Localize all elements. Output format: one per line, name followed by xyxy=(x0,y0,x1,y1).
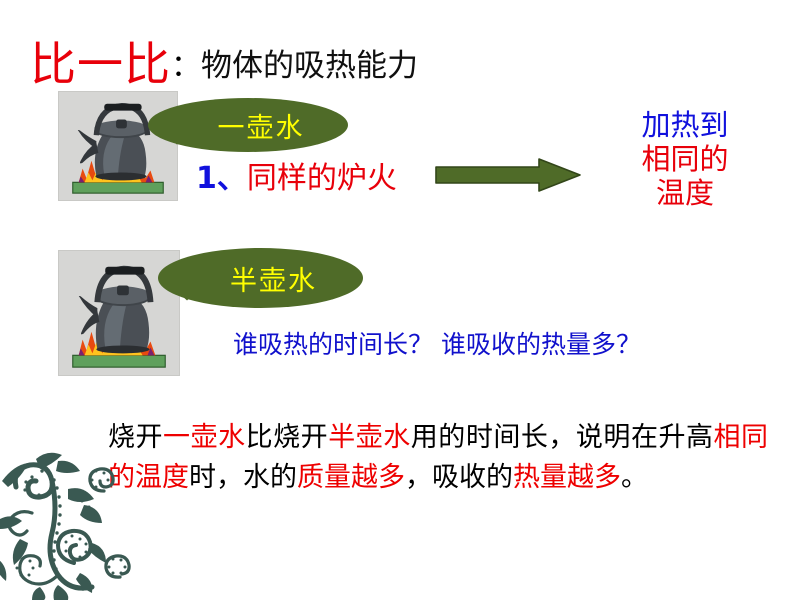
conclusion-run-10: 。 xyxy=(621,462,648,493)
conclusion-run-9: 热量越多 xyxy=(513,462,621,493)
callout-label-half-kettle: 半壶水 xyxy=(158,248,363,308)
heat-target-text: 加热到 相同的 温度 xyxy=(580,108,790,211)
question-line: 谁吸热的时间长？ 谁吸收的热量多？ xyxy=(233,325,641,361)
step-text: 同样的炉火 xyxy=(247,161,397,196)
step-one-line: 1、同样的炉火 xyxy=(196,153,397,197)
conclusion-run-6: 时，水的 xyxy=(189,462,297,493)
page-title: 比一比：物体的吸热能力 xyxy=(30,28,418,94)
step-number: 1、 xyxy=(196,161,247,196)
callout-full-kettle: 一壶水 xyxy=(148,98,348,152)
floral-ornament-icon xyxy=(0,447,146,600)
callout-half-kettle: 半壶水 xyxy=(158,248,363,308)
conclusion-paragraph: 烧开一壶水比烧开半壶水用的时间长，说明在升高相同的温度时，水的质量越多，吸收的热… xyxy=(108,418,768,498)
conclusion-run-8: ，吸收的 xyxy=(405,462,513,493)
conclusion-run-7: 质量越多 xyxy=(297,462,405,493)
conclusion-run-4: 用的时间长，说明在升高 xyxy=(411,422,714,453)
right-arrow-icon xyxy=(434,158,582,192)
slide-canvas: 比一比：物体的吸热能力 xyxy=(0,0,800,600)
arrow-svg xyxy=(434,158,582,192)
heat-to-label: 加热到 xyxy=(580,108,790,142)
conclusion-run-3: 半壶水 xyxy=(328,422,411,453)
title-subject: 物体的吸热能力 xyxy=(201,48,418,84)
callout-label-full-kettle: 一壶水 xyxy=(148,98,348,152)
conclusion-run-1: 一壶水 xyxy=(163,422,246,453)
temperature-label: 温度 xyxy=(580,176,790,210)
same-label: 相同的 xyxy=(580,142,790,176)
title-highlight: 比一比 xyxy=(30,37,171,91)
ornament-svg xyxy=(0,447,146,600)
title-colon: ： xyxy=(171,49,201,84)
conclusion-run-2: 比烧开 xyxy=(246,422,329,453)
